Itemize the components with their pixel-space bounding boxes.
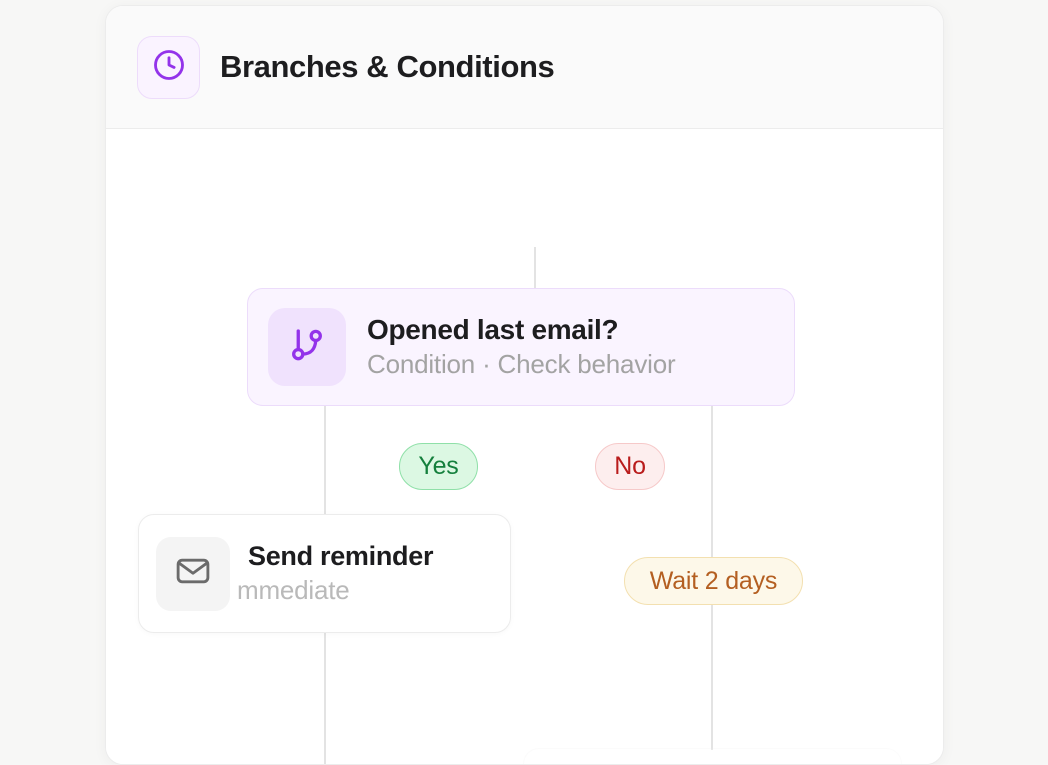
envelope-icon-tile	[156, 537, 230, 611]
action-card-text: Send reminder mmediate	[248, 541, 433, 606]
branch-label-no[interactable]: No	[595, 443, 665, 490]
condition-subtitle: Condition · Check behavior	[367, 349, 675, 380]
branch-label-yes[interactable]: Yes	[399, 443, 478, 490]
condition-title: Opened last email?	[367, 314, 675, 346]
action-title: Send reminder	[248, 541, 433, 572]
git-branch-icon	[286, 324, 328, 371]
condition-node-text: Opened last email? Condition · Check beh…	[367, 314, 675, 380]
panel-header: Branches & Conditions	[106, 6, 943, 129]
page-title: Branches & Conditions	[220, 49, 554, 85]
workflow-panel: Branches & Conditions	[105, 5, 944, 765]
condition-node[interactable]: Opened last email? Condition · Check beh…	[247, 288, 795, 406]
action-card-send-follow-up[interactable]: Send follow-up Day 2	[523, 748, 902, 765]
git-branch-icon-tile	[268, 308, 346, 386]
clock-icon-tile	[137, 36, 200, 99]
delay-badge-wait[interactable]: Wait 2 days	[624, 557, 803, 605]
action-subtitle: mmediate	[237, 575, 433, 606]
envelope-icon	[174, 552, 212, 595]
flow-canvas: Opened last email? Condition · Check beh…	[106, 129, 943, 765]
clock-icon	[151, 47, 187, 88]
action-card-send-reminder[interactable]: Send reminder mmediate	[138, 514, 511, 633]
